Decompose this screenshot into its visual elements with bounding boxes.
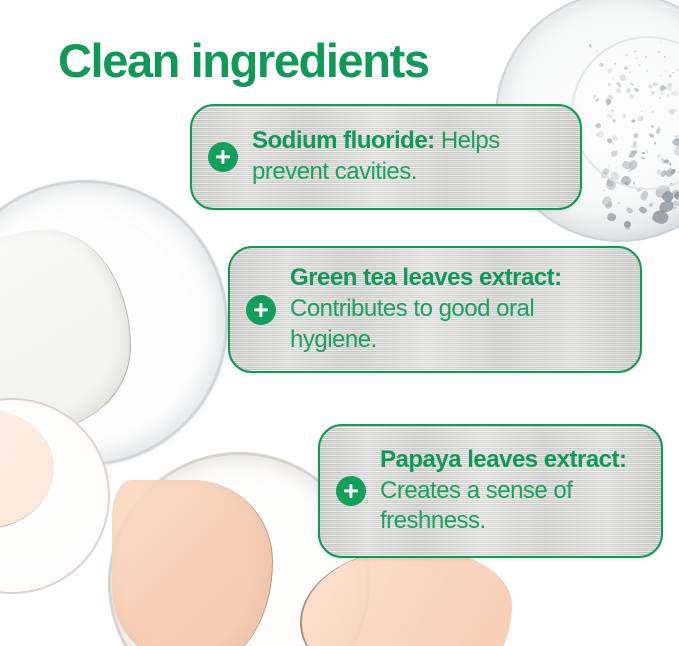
ingredient-card-green-tea-leaves-extract: Green tea leaves extract: Contributes to…	[228, 246, 642, 373]
powder-fleck	[638, 206, 647, 214]
ingredient-card-text: Papaya leaves extract: Creates a sense o…	[380, 445, 647, 537]
powder-fleck	[595, 50, 598, 53]
powder-fleck	[649, 202, 654, 208]
plus-circle-icon	[246, 295, 276, 325]
ingredient-card-papaya-leaves-extract: Papaya leaves extract: Creates a sense o…	[318, 424, 663, 558]
ingredient-label: Sodium fluoride:	[252, 127, 435, 154]
ingredient-label: Green tea leaves extract:	[290, 264, 562, 291]
powder-fleck	[605, 203, 611, 208]
powder-fleck	[639, 190, 649, 202]
peach-gel-blob	[112, 480, 273, 646]
ingredient-card-text: Green tea leaves extract: Contributes to…	[290, 263, 626, 355]
ingredient-description: Creates a sense of freshness.	[380, 477, 572, 535]
page-title: Clean ingredients	[58, 35, 429, 88]
powder-fleck	[589, 44, 593, 48]
ingredient-description: Contributes to good oral hygiene.	[290, 295, 534, 353]
ingredients-infographic: Clean ingredients Sodium fluoride: Helps…	[0, 0, 679, 646]
powder-fleck	[603, 190, 605, 191]
plus-circle-icon	[208, 142, 238, 172]
plus-circle-icon	[336, 476, 366, 506]
ingredient-card-sodium-fluoride: Sodium fluoride: Helps prevent cavities.	[190, 104, 582, 210]
powder-fleck	[618, 202, 620, 204]
ingredient-card-text: Sodium fluoride: Helps prevent cavities.	[252, 126, 566, 187]
ingredient-label: Papaya leaves extract:	[380, 446, 627, 473]
powder-fleck	[607, 213, 616, 221]
powder-fleck	[625, 207, 634, 215]
